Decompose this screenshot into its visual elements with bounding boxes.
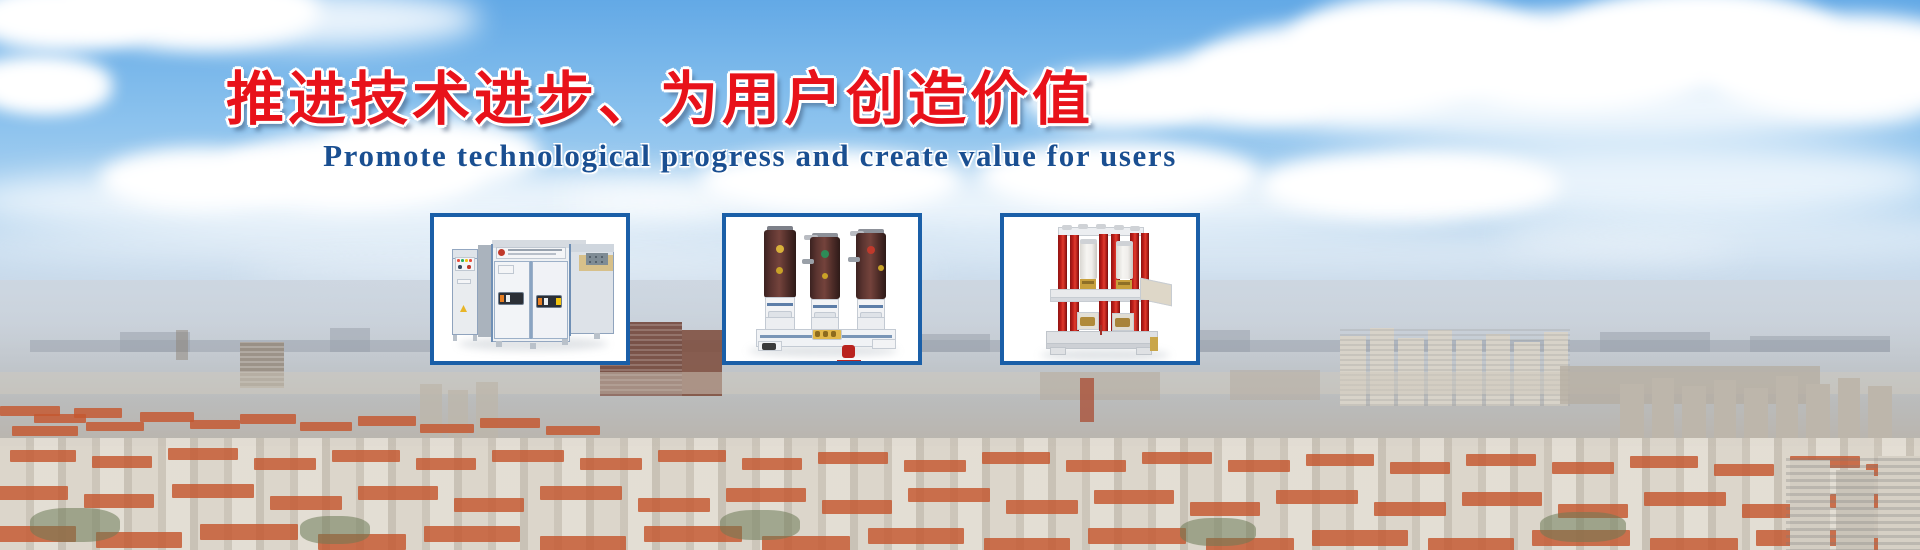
product-panel-switchgear[interactable]: [430, 213, 630, 365]
product-image-red-assembly: [1004, 217, 1196, 361]
product-image-contactor: [726, 217, 918, 361]
banner-subtitle-english: Promote technological progress and creat…: [0, 138, 1500, 174]
product-panel-red-assembly[interactable]: [1000, 213, 1200, 365]
promo-banner: 推进技术进步、为用户创造价值 Promote technological pro…: [0, 0, 1920, 550]
banner-headline-chinese: 推进技术进步、为用户创造价值: [0, 52, 1320, 136]
cityscape-background: [0, 280, 1920, 550]
product-image-switchgear: [434, 217, 626, 361]
product-panel-contactor[interactable]: [722, 213, 922, 365]
